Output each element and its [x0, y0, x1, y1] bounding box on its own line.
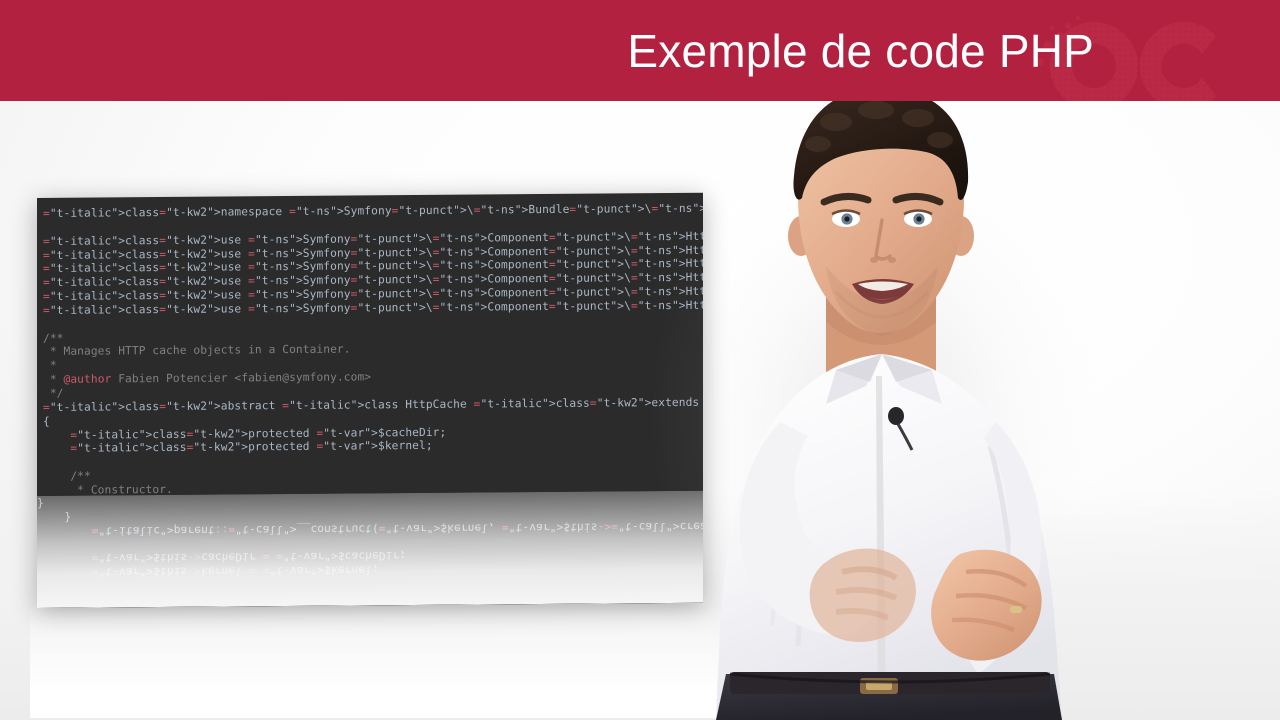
code-panel-reflection: ="t-var">$this->kernel = ="t-var">$kerne… — [37, 491, 703, 608]
slide-header: Exemple de code PHP — [0, 0, 1280, 101]
code-reflection-body: ="t-var">$this->kernel = ="t-var">$kerne… — [37, 491, 703, 579]
code-panel-stack: ="t-italic">class="t-kw2">namespace ="t-… — [37, 198, 703, 720]
slide-stage: ="t-italic">class="t-kw2">namespace ="t-… — [0, 0, 1280, 720]
page-title: Exemple de code PHP — [627, 24, 1094, 78]
